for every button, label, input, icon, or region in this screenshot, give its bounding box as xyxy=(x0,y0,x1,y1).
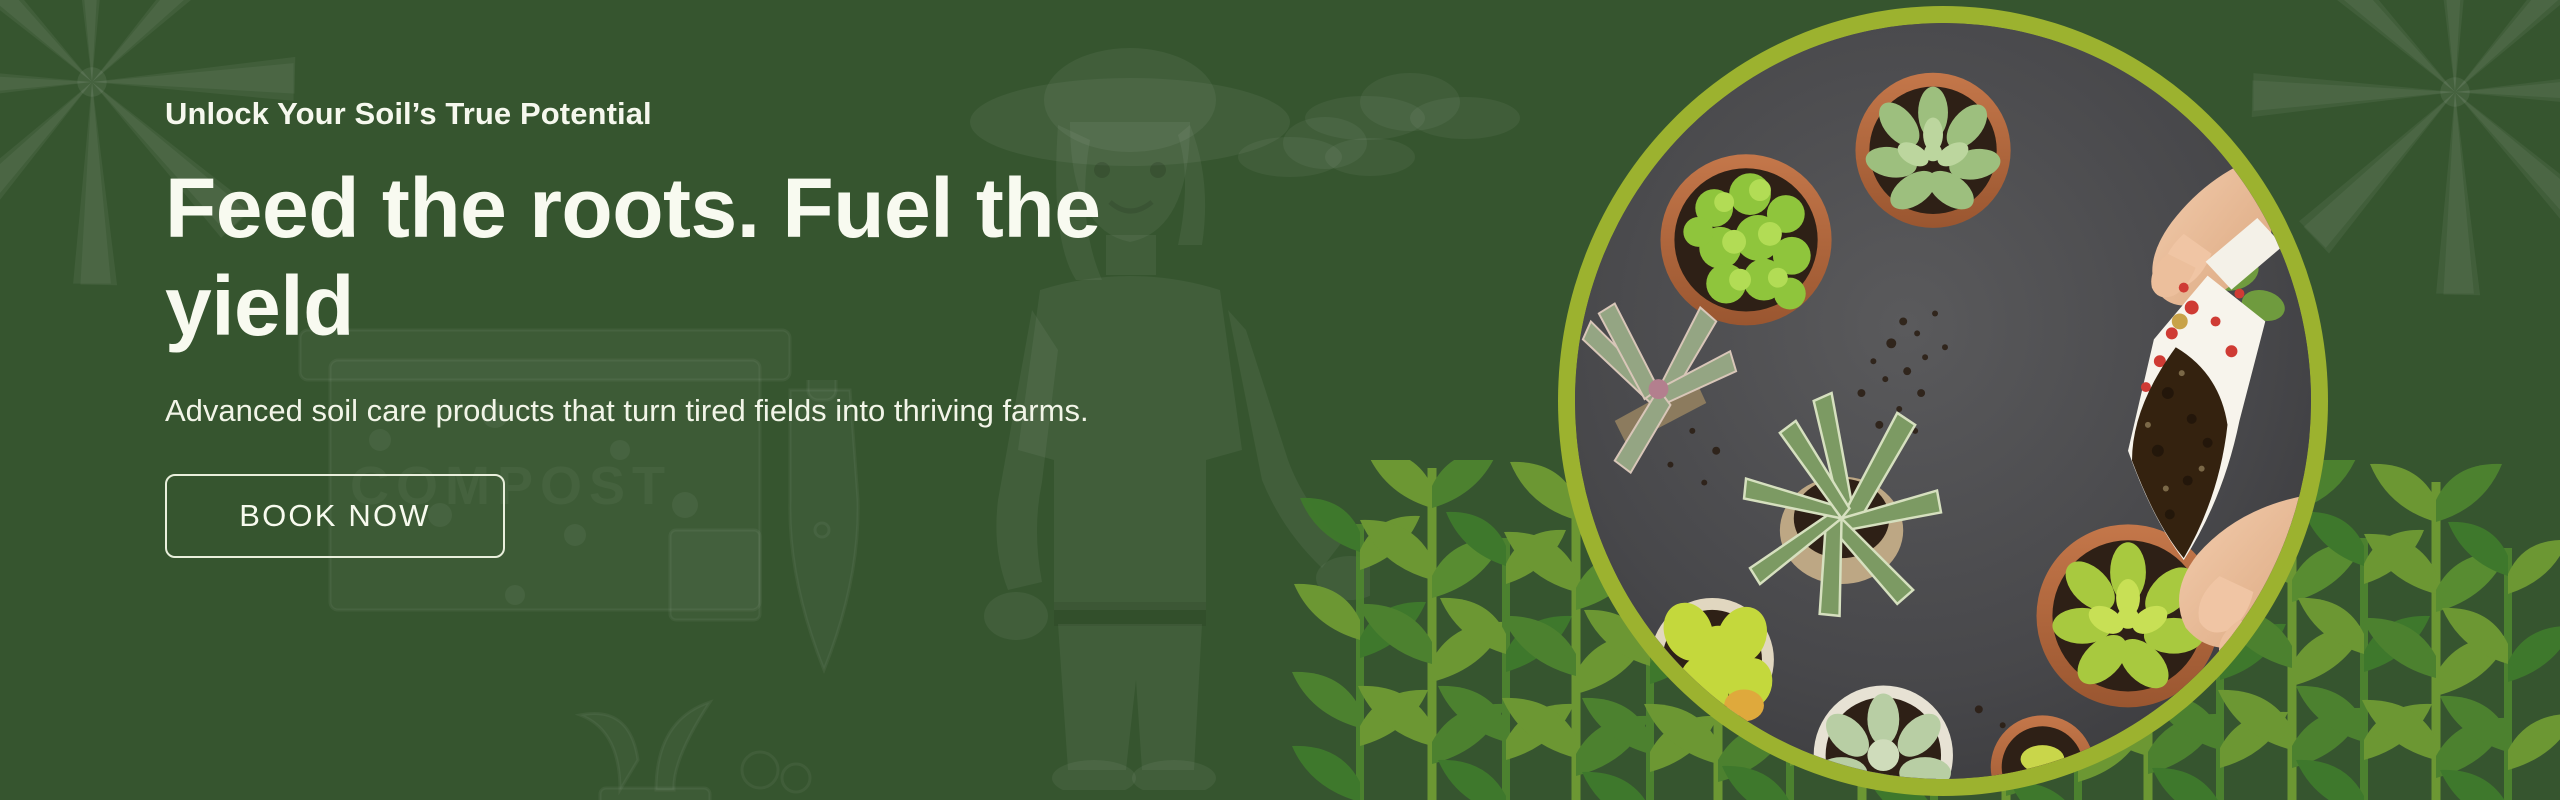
hero-eyebrow: Unlock Your Soil’s True Potential xyxy=(165,95,1175,132)
hero-photo xyxy=(1575,23,2311,779)
hero-banner: COMPOST xyxy=(0,0,2560,800)
hero-photo-ring xyxy=(1558,6,2328,796)
page-title: Feed the roots. Fuel the yield xyxy=(165,160,1145,355)
hero-subcopy: Advanced soil care products that turn ti… xyxy=(165,389,1165,434)
hero-content: Unlock Your Soil’s True Potential Feed t… xyxy=(165,95,1175,558)
book-now-button[interactable]: BOOK NOW xyxy=(165,474,505,558)
cloud-icon xyxy=(1235,105,1425,190)
cloud-icon xyxy=(1300,60,1530,155)
